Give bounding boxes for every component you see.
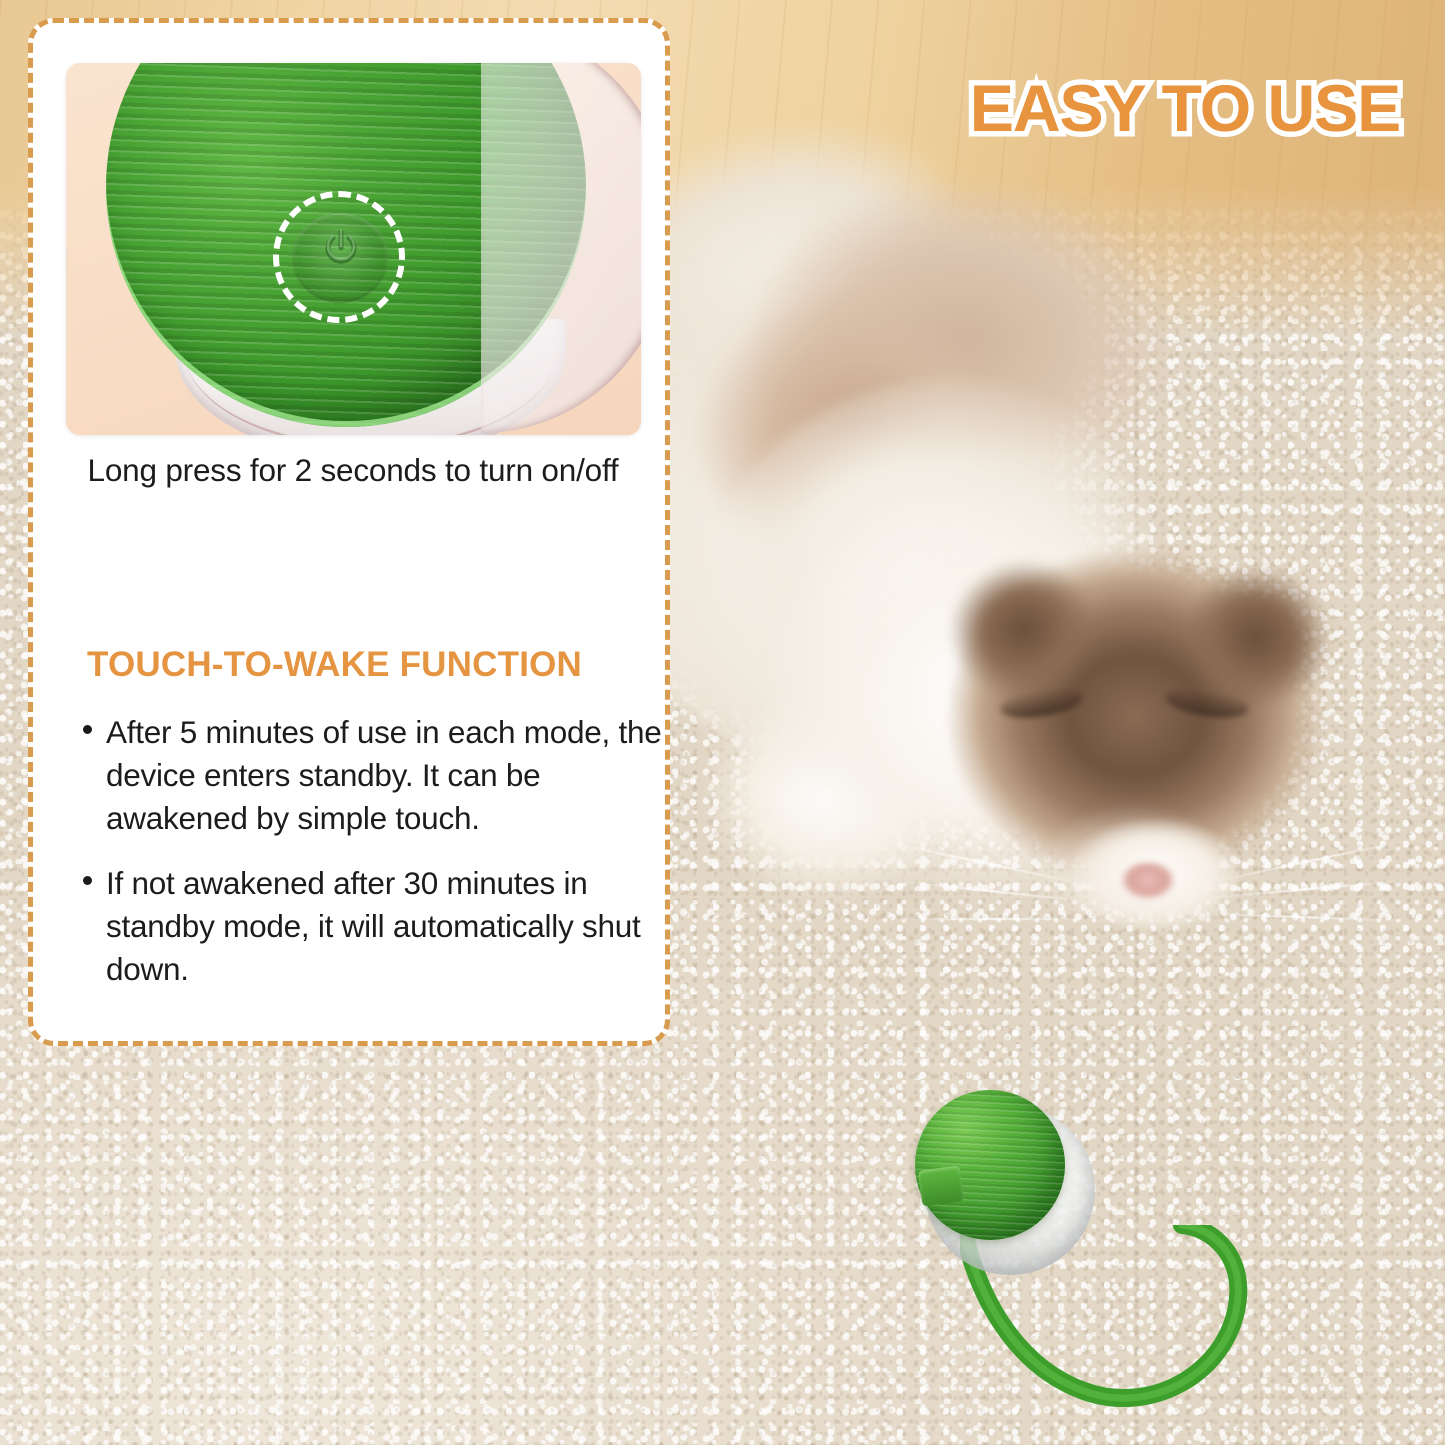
cat-nose: [1120, 862, 1176, 902]
page-title: EASY TO USE: [935, 63, 1435, 153]
list-item: After 5 minutes of use in each mode, the…: [79, 711, 675, 840]
info-panel: Long press for 2 seconds to turn on/off …: [28, 18, 670, 1046]
inset-caption: Long press for 2 seconds to turn on/off: [69, 451, 637, 489]
list-item: If not awakened after 30 minutes in stan…: [79, 862, 675, 991]
bullet-dot-icon: [83, 725, 92, 734]
bullet-text: If not awakened after 30 minutes in stan…: [106, 862, 675, 991]
bullet-text: After 5 minutes of use in each mode, the…: [106, 711, 675, 840]
feature-bullet-list: After 5 minutes of use in each mode, the…: [79, 711, 675, 1013]
section-heading: TOUCH-TO-WAKE FUNCTION: [87, 645, 667, 685]
toy-green-cap: [915, 1090, 1065, 1240]
toy-button-tab: [918, 1165, 965, 1206]
cat-whisker: [900, 918, 1090, 920]
dashed-circle-highlight-icon: [273, 191, 405, 323]
bullet-dot-icon: [83, 876, 92, 885]
product-inset-photo: [66, 63, 641, 435]
